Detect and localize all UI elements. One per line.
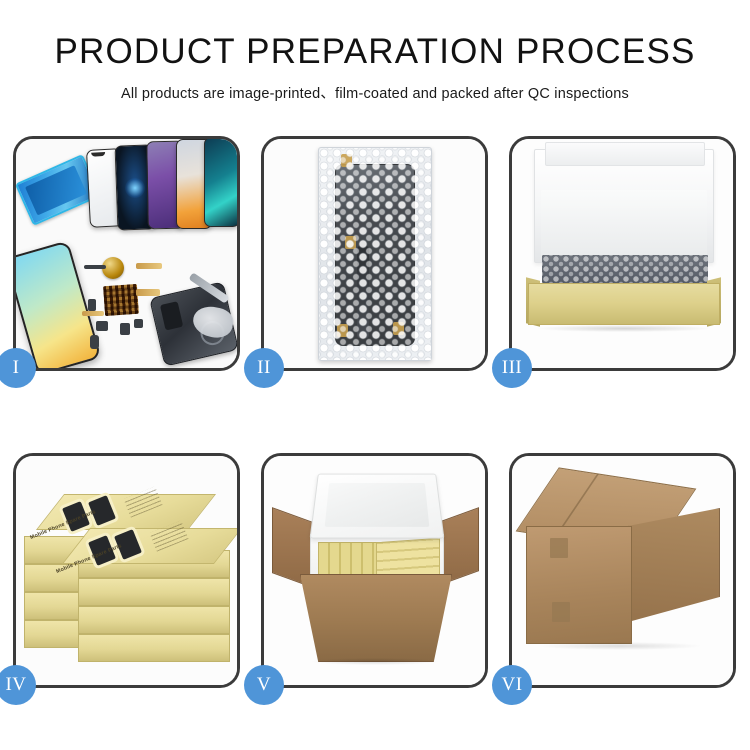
- drop-shadow: [312, 658, 438, 665]
- bubble-wrap-bag: [318, 147, 432, 361]
- foam-cooler-lid: [310, 474, 445, 539]
- lid-top-edge: [545, 142, 705, 166]
- step-image-3: [512, 139, 733, 368]
- small-part: [96, 321, 108, 331]
- carton-front-face: [526, 526, 632, 644]
- scene-sealed-carton: [512, 456, 733, 685]
- step-image-1: [16, 139, 237, 368]
- gold-tape-tab: [345, 236, 356, 249]
- gold-tape-tab: [341, 154, 352, 167]
- step-card-2: II: [261, 136, 488, 371]
- white-box-lid: [534, 149, 714, 263]
- bubble-wrapped-contents: [542, 255, 708, 285]
- scene-carton-with-foam: [264, 456, 485, 685]
- step-card-1: I: [13, 136, 240, 371]
- box-stack: Mobile Phone Spare Parts Mobile Phone Sp…: [22, 470, 232, 670]
- step-badge-4: IV: [0, 665, 36, 705]
- small-part: [84, 265, 106, 269]
- gold-tape-tab: [393, 322, 404, 335]
- scene-stacked-boxes: Mobile Phone Spare Parts Mobile Phone Sp…: [16, 456, 237, 685]
- small-part: [88, 299, 96, 311]
- carton-tape: [552, 602, 570, 622]
- small-part: [120, 323, 130, 335]
- carton-tape: [550, 538, 568, 558]
- phone-teal: [204, 139, 237, 227]
- stacked-box: [78, 578, 230, 606]
- stacked-box: [78, 606, 230, 634]
- step-badge-3: III: [492, 348, 532, 388]
- step-badge-5: V: [244, 665, 284, 705]
- scene-kraft-box-open: [512, 139, 733, 368]
- step-card-3: III: [509, 136, 736, 371]
- step-card-5: V: [261, 453, 488, 688]
- product-preparation-infographic: PRODUCT PREPARATION PROCESS All products…: [0, 0, 750, 750]
- step-badge-2: II: [244, 348, 284, 388]
- flex-cable-part: [136, 263, 162, 269]
- step-badge-1: I: [0, 348, 36, 388]
- flex-cable-part: [136, 289, 160, 296]
- carton-side-face: [628, 508, 720, 622]
- drop-shadow: [540, 642, 700, 650]
- gold-tape-tab: [337, 324, 348, 337]
- small-part: [90, 335, 99, 349]
- flex-cable-part: [82, 311, 104, 316]
- drop-shadow: [538, 325, 710, 332]
- page-title: PRODUCT PREPARATION PROCESS: [0, 34, 750, 69]
- chip-grid-part: [103, 284, 139, 316]
- screen-flex-cable: [357, 246, 369, 338]
- step-image-2: [264, 139, 485, 368]
- phone-screen: [335, 164, 415, 346]
- page-subtitle: All products are image-printed、film-coat…: [0, 82, 750, 103]
- steps-grid: I II: [13, 136, 737, 688]
- step-card-6: VI: [509, 453, 736, 688]
- lid-face: [541, 190, 707, 258]
- step-image-4: Mobile Phone Spare Parts Mobile Phone Sp…: [16, 456, 237, 685]
- step-image-5: [264, 456, 485, 685]
- scene-bubble-wrapped-screen: [264, 139, 485, 368]
- scene-phone-parts: [16, 139, 237, 368]
- kraft-box-front: [528, 283, 720, 325]
- step-card-4: Mobile Phone Spare Parts Mobile Phone Sp…: [13, 453, 240, 688]
- small-part: [134, 319, 143, 328]
- header: PRODUCT PREPARATION PROCESS All products…: [0, 0, 750, 103]
- step-badge-6: VI: [492, 665, 532, 705]
- step-image-6: [512, 456, 733, 685]
- shipping-carton-body: [300, 574, 452, 662]
- stacked-box: [78, 634, 230, 662]
